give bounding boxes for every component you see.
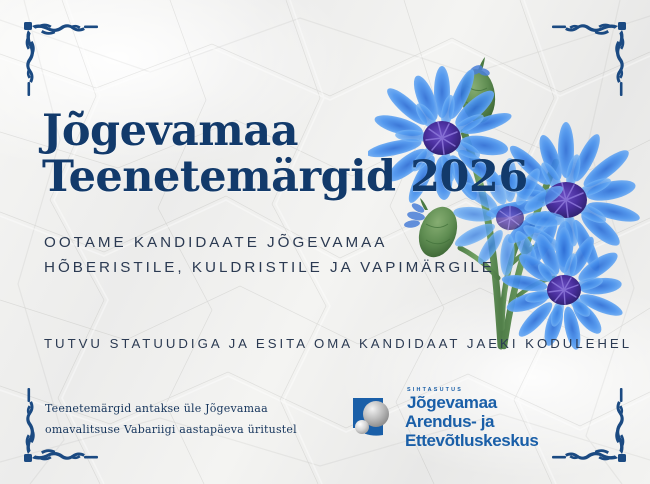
poster-footnote: Teenetemärgid antakse üle Jõgevamaa omav… — [45, 398, 297, 440]
poster-subheadline: OOTAME KANDIDAATE JÕGEVAMAA HÕBERISTILE,… — [44, 230, 495, 280]
jaek-logo-mark-icon — [352, 394, 398, 440]
corner-ornament-top-left — [8, 8, 100, 100]
page-title: Jõgevamaa Teenetemärgid 2026 — [42, 108, 528, 200]
logo-line-2: Arendus- ja Ettevõtluskeskus — [405, 412, 602, 450]
logo-line-1: Jõgevamaa — [407, 394, 602, 412]
jaek-logo[interactable]: SIHTASUTUS Jõgevamaa Arendus- ja Ettevõt… — [352, 392, 602, 442]
poster-call-to-action: TUTVU STATUUDIGA JA ESITA OMA KANDIDAAT … — [44, 336, 632, 351]
poster-canvas: Jõgevamaa Teenetemärgid 2026 OOTAME KAND… — [0, 0, 650, 484]
